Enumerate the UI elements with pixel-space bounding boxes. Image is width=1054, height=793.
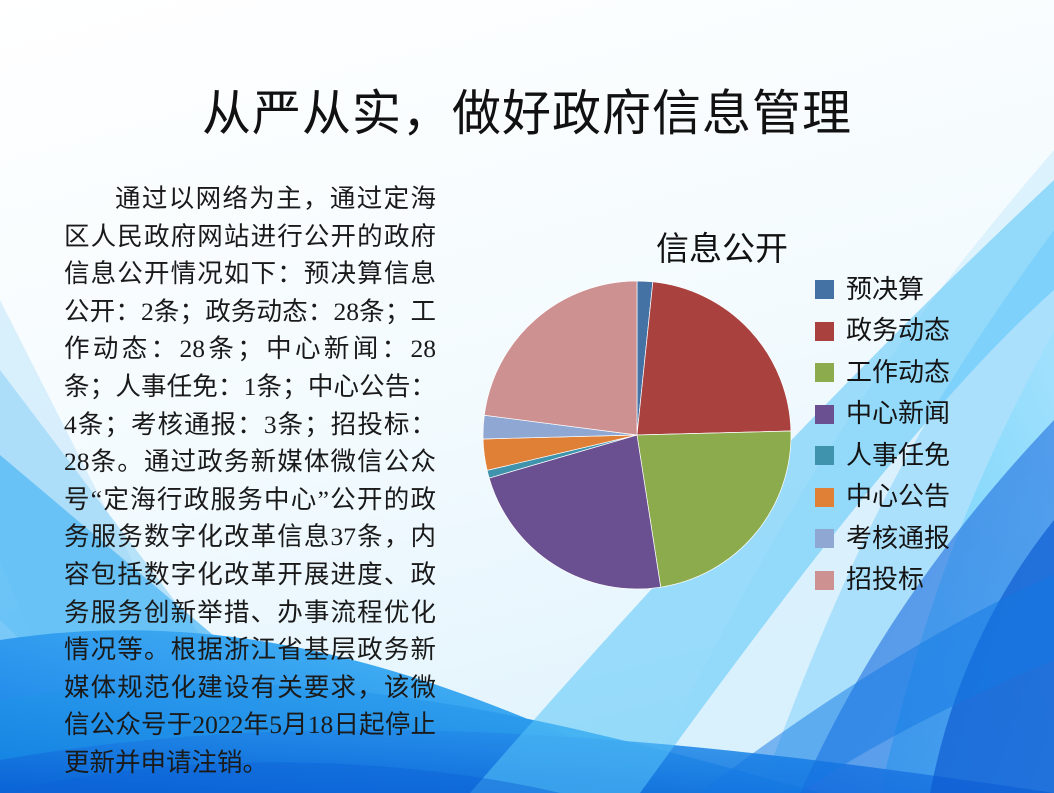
chart-title: 信息公开: [656, 230, 788, 270]
legend-label: 人事任免: [846, 441, 950, 471]
pie-chart: 信息公开 预决算政务动态工作动态中心新闻人事任免中心公告考核通报招投标: [460, 210, 1054, 610]
pie-slice: [637, 282, 791, 435]
pie-graphic: [482, 280, 792, 590]
pie-svg: [482, 280, 792, 590]
legend-label: 工作动态: [846, 358, 950, 388]
pie-slice: [484, 281, 637, 435]
legend-label: 招投标: [846, 565, 924, 595]
legend-swatch-icon: [815, 405, 834, 424]
page-title: 从严从实，做好政府信息管理: [0, 84, 1054, 144]
legend-swatch-icon: [815, 571, 834, 590]
legend-item: 预决算: [815, 269, 1045, 311]
legend-label: 考核通报: [846, 524, 950, 554]
legend-label: 中心新闻: [846, 399, 950, 429]
slide-canvas: 从严从实，做好政府信息管理 通过以网络为主，通过定海区人民政府网站进行公开的政府…: [0, 0, 1054, 793]
body-paragraph: 通过以网络为主，通过定海区人民政府网站进行公开的政府信息公开情况如下：预决算信息…: [64, 180, 436, 782]
legend-item: 招投标: [815, 560, 1045, 602]
legend-item: 政务动态: [815, 311, 1045, 353]
legend-label: 中心公告: [846, 482, 950, 512]
legend-swatch-icon: [815, 488, 834, 507]
legend-swatch-icon: [815, 363, 834, 382]
legend-item: 工作动态: [815, 352, 1045, 394]
legend-swatch-icon: [815, 322, 834, 341]
legend-item: 考核通报: [815, 518, 1045, 560]
pie-slices: [483, 281, 791, 589]
legend-swatch-icon: [815, 529, 834, 548]
legend-item: 中心新闻: [815, 394, 1045, 436]
legend-swatch-icon: [815, 280, 834, 299]
legend-label: 政务动态: [846, 316, 950, 346]
chart-legend: 预决算政务动态工作动态中心新闻人事任免中心公告考核通报招投标: [815, 269, 1045, 601]
legend-item: 中心公告: [815, 477, 1045, 519]
pie-slice: [637, 431, 791, 587]
legend-item: 人事任免: [815, 435, 1045, 477]
legend-swatch-icon: [815, 446, 834, 465]
legend-label: 预决算: [846, 275, 924, 305]
